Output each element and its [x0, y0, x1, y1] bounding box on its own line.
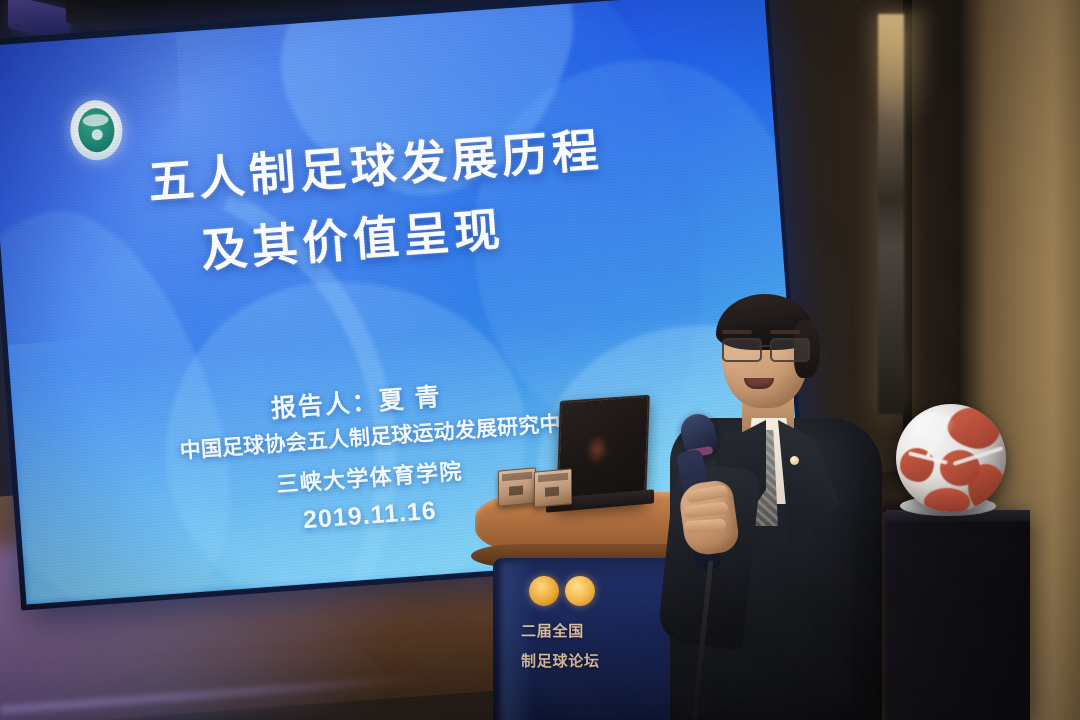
eyeglass-lens-left	[722, 338, 762, 362]
speaker-lapel-pin-icon	[790, 456, 799, 465]
display-pedestal	[886, 516, 1030, 720]
ball-highlight	[910, 412, 956, 444]
name-card-icon	[534, 468, 572, 507]
presentation-photo-scene: 五人制足球发展历程 及其价值呈现 报告人：夏 青 中国足球协会五人制足球运动发展…	[0, 0, 1080, 720]
eyeglass-lens-right	[770, 338, 810, 362]
slide-affiliation-line-2: 三峡大学体育学院	[275, 454, 463, 499]
speaker-eyebrow	[722, 330, 752, 334]
ball-patch	[924, 488, 970, 512]
name-card-text-mark	[509, 485, 523, 495]
speaker-figure	[660, 290, 890, 720]
speaker-eyebrow	[770, 330, 800, 334]
wall-light-glow	[860, 10, 930, 140]
eyeglasses-icon	[720, 338, 812, 358]
slide-title-line-2: 及其价值呈现	[199, 193, 507, 281]
name-card-text-mark	[545, 486, 559, 496]
gold-seal-icon	[565, 576, 595, 606]
slide-date: 2019.11.16	[302, 497, 437, 536]
ball-patch	[968, 464, 1006, 512]
lectern-highlight	[501, 562, 535, 720]
name-card-icon	[498, 467, 536, 506]
eyeglass-bridge	[758, 345, 770, 347]
name-card-header-strip	[502, 472, 532, 482]
soccer-ball-display	[896, 404, 1006, 512]
slide-title-line-1: 五人制足球发展历程	[146, 114, 605, 213]
name-card-header-strip	[538, 473, 568, 483]
